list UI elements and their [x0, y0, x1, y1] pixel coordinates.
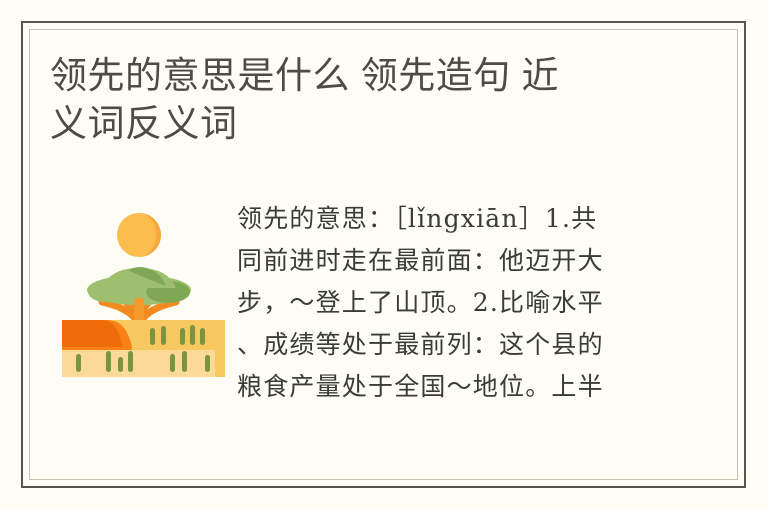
- definition-line: 领先的意思：［lǐngxiān］1.共: [237, 198, 732, 240]
- page-root: 领先的意思是什么 领先造句 近 义词反义词: [0, 0, 768, 510]
- page-title-line-1: 领先的意思是什么 领先造句 近: [50, 52, 670, 100]
- content-row: 领先的意思：［lǐngxiān］1.共 同前进时走在最前面：他迈开大 步，～登上…: [32, 196, 732, 466]
- ground-layers: [62, 320, 225, 377]
- savanna-acacia-tree-icon: [60, 202, 227, 377]
- page-title: 领先的意思是什么 领先造句 近 义词反义词: [50, 52, 670, 148]
- definition-text-block: 领先的意思：［lǐngxiān］1.共 同前进时走在最前面：他迈开大 步，～登上…: [237, 198, 732, 460]
- sun-shape: [117, 213, 161, 257]
- page-title-line-2: 义词反义词: [50, 100, 670, 148]
- definition-line: 步，～登上了山顶。2.比喻水平: [237, 282, 732, 324]
- definition-line: 粮食产量处于全国～地位。上半: [237, 366, 732, 408]
- definition-line: 同前进时走在最前面：他迈开大: [237, 240, 732, 282]
- definition-line: 、成绩等处于最前列：这个县的: [237, 324, 732, 366]
